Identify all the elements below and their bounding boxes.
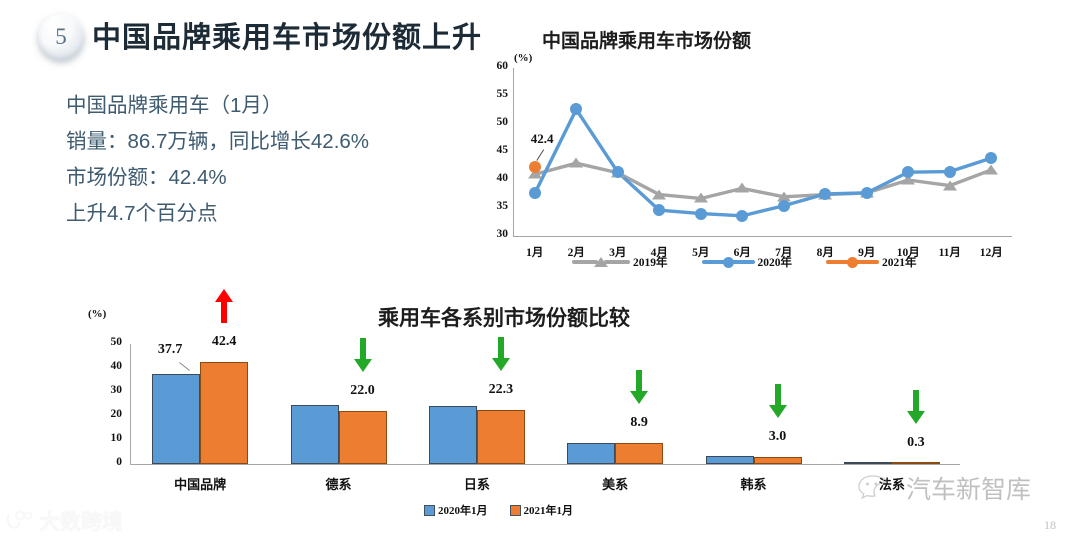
line-chart-xtick: 1月 [513, 244, 557, 260]
bar-chart-ytick: 0 [86, 456, 122, 468]
line-chart-data-point[interactable] [612, 166, 624, 178]
bar-chart-data-label: 42.4 [212, 334, 237, 350]
line-chart-ytick: 40 [476, 172, 508, 184]
line-chart-unit-label: (%) [514, 52, 532, 64]
watermark-bottom-right: 汽车新智库 [858, 470, 1031, 506]
bar-chart-xtick: 韩系 [704, 474, 804, 493]
line-chart-ytick: 45 [476, 144, 508, 156]
bar-legend-item-2021[interactable]: 2021年1月 [510, 502, 574, 518]
line-chart-data-point[interactable] [985, 152, 997, 164]
bar-chart-bar[interactable] [291, 405, 339, 464]
line-chart-series-lines [514, 68, 1012, 236]
bar-legend-item-2020[interactable]: 2020年1月 [424, 502, 488, 518]
bar-chart-bar[interactable] [615, 443, 663, 464]
line-chart-legend: 2019年 2020年 2021年 [572, 254, 917, 270]
bar-chart-bar[interactable] [339, 411, 387, 464]
slide-number-badge: 5 [38, 14, 84, 60]
bar-chart-legend: 2020年1月 2021年1月 [424, 502, 573, 518]
bar-chart-bar[interactable] [844, 462, 892, 464]
page-number: 18 [1044, 518, 1056, 533]
bar-chart-bar[interactable] [200, 362, 248, 464]
bar-chart-title: 乘用车各系别市场份额比较 [378, 302, 630, 332]
bar-chart-plot-area: 37.742.422.022.38.93.00.3 [131, 344, 961, 464]
line-chart-data-point[interactable] [570, 103, 582, 115]
arrow-down-icon [491, 337, 511, 376]
bar-chart-ytick: 40 [86, 360, 122, 372]
arrow-down-icon [353, 338, 373, 377]
arrow-down-icon [906, 390, 926, 429]
bar-chart-data-label: 22.0 [350, 383, 375, 399]
line-chart-ytick: 55 [476, 88, 508, 100]
legend-item-2020[interactable]: 2020年 [702, 254, 793, 270]
bar-legend-label-2021: 2021年1月 [524, 502, 574, 518]
summary-line-1: 销量：86.7万辆，同比增长42.6% [66, 124, 446, 160]
bar-chart-data-label: 37.7 [158, 342, 183, 358]
badge-number: 5 [38, 14, 84, 60]
line-chart-data-point[interactable] [943, 180, 957, 190]
bar-chart-ytick: 50 [86, 336, 122, 348]
wechat-icon [858, 472, 898, 504]
circle-marker-icon [847, 257, 858, 268]
line-chart-data-label: 42.4 [531, 131, 554, 147]
triangle-marker-icon [594, 257, 608, 267]
bar-chart-leader-line [179, 362, 190, 371]
bar-chart-xtick: 日系 [427, 474, 527, 493]
line-chart-ytick: 60 [476, 60, 508, 72]
circle-marker-icon [723, 257, 734, 268]
bar-chart-bar[interactable] [754, 457, 802, 464]
legend-item-2019[interactable]: 2019年 [572, 254, 668, 270]
line-chart-title: 中国品牌乘用车市场份额 [542, 26, 751, 53]
summary-line-0: 中国品牌乘用车（1月） [66, 88, 446, 124]
bar-chart-unit-label: (%) [88, 308, 106, 320]
bar-chart-ytick: 10 [86, 432, 122, 444]
line-chart-data-point[interactable] [778, 200, 790, 212]
line-chart-ytick: 35 [476, 200, 508, 212]
bar-chart-bar[interactable] [152, 374, 200, 464]
watermark-left-text: 大数跨境 [39, 506, 123, 536]
bar-chart-ytick: 20 [86, 408, 122, 420]
bar-chart-bar[interactable] [567, 443, 615, 464]
line-chart-data-point[interactable] [735, 183, 749, 193]
line-chart-xtick: 12月 [969, 244, 1013, 260]
line-chart-data-point[interactable] [694, 193, 708, 203]
bar-chart-ytick: 30 [86, 384, 122, 396]
bar-chart-xtick: 德系 [289, 474, 389, 493]
line-chart-data-point[interactable] [529, 187, 541, 199]
summary-block: 中国品牌乘用车（1月） 销量：86.7万辆，同比增长42.6% 市场份额：42.… [66, 88, 446, 232]
bar-chart-bar[interactable] [892, 462, 940, 464]
bar-chart-xtick: 美系 [565, 474, 665, 493]
bar-chart-data-label: 0.3 [907, 435, 925, 451]
legend-label-2021: 2021年 [882, 254, 917, 270]
line-chart-data-point[interactable] [653, 204, 665, 216]
line-chart-data-point[interactable] [569, 158, 583, 168]
watermark-right-text: 汽车新智库 [906, 470, 1031, 506]
swatch-orange-icon [510, 505, 521, 516]
bar-chart-bar[interactable] [706, 456, 754, 464]
line-chart-ytick: 30 [476, 228, 508, 240]
arrow-up-icon [214, 289, 234, 328]
line-chart-data-point[interactable] [529, 161, 541, 173]
line-chart-data-point[interactable] [944, 166, 956, 178]
line-chart-ytick: 50 [476, 116, 508, 128]
line-chart-data-point[interactable] [695, 208, 707, 220]
watermark-bottom-left: 大数跨境 [6, 506, 123, 536]
slide-canvas: 5 中国品牌乘用车市场份额上升 中国品牌乘用车（1月） 销量：86.7万辆，同比… [0, 0, 1080, 540]
bar-legend-label-2020: 2020年1月 [438, 502, 488, 518]
line-chart-data-point[interactable] [861, 187, 873, 199]
dashu-logo-icon [6, 510, 32, 532]
arrow-down-icon [768, 384, 788, 423]
line-chart-x-axis-line [513, 236, 1012, 237]
line-chart-plot-area: 42.4 [514, 68, 1012, 236]
line-chart-data-point[interactable] [984, 164, 998, 174]
bar-chart-x-axis-line [130, 464, 960, 465]
bar-chart-bar[interactable] [429, 406, 477, 464]
legend-label-2020: 2020年 [758, 254, 793, 270]
bar-chart-data-label: 22.3 [489, 382, 514, 398]
line-chart-xtick: 11月 [928, 244, 972, 260]
summary-line-3: 上升4.7个百分点 [66, 196, 446, 232]
bar-chart-bar[interactable] [477, 410, 525, 464]
page-title: 中国品牌乘用车市场份额上升 [92, 14, 482, 56]
bar-chart-data-label: 8.9 [630, 415, 648, 431]
line-chart-data-point[interactable] [819, 188, 831, 200]
line-chart-data-point[interactable] [736, 210, 748, 222]
arrow-down-icon [629, 370, 649, 409]
line-chart: 中国品牌乘用车市场份额 (%) 30354045505560 1月2月3月4月5… [452, 26, 1052, 291]
bar-chart-xtick: 中国品牌 [150, 474, 250, 493]
legend-item-2021[interactable]: 2021年 [826, 254, 917, 270]
bar-chart-data-label: 3.0 [769, 429, 787, 445]
summary-line-2: 市场份额：42.4% [66, 160, 446, 196]
line-chart-data-point[interactable] [902, 166, 914, 178]
swatch-blue-icon [424, 505, 435, 516]
legend-label-2019: 2019年 [633, 254, 668, 270]
line-chart-data-point[interactable] [652, 189, 666, 199]
